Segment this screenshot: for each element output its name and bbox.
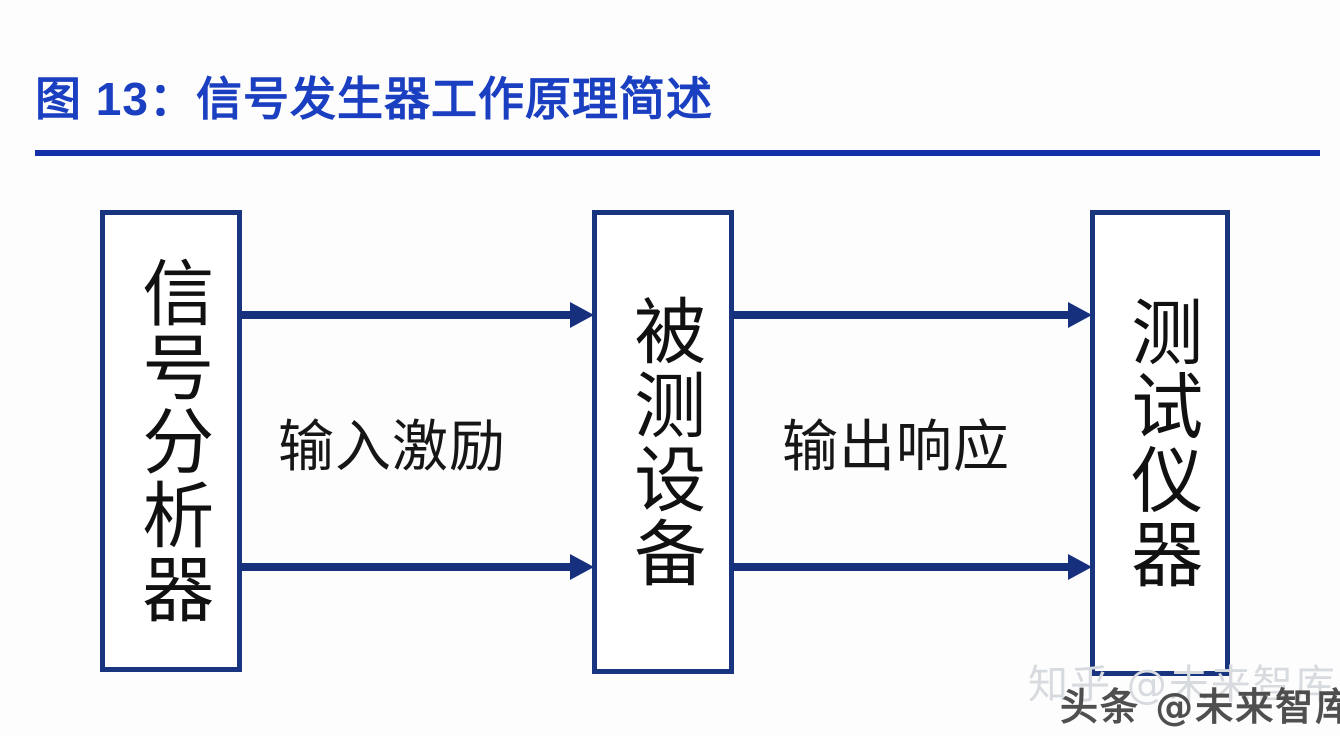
arrow-shaft: [240, 563, 572, 571]
arrow-output-bottom-icon: [732, 554, 1092, 580]
node-test-instrument-label: 测试仪器: [1095, 215, 1225, 671]
block-diagram: 信号分析器 被测设备 测试仪器 输入激励 输出响应: [0, 160, 1340, 736]
arrow-shaft: [732, 563, 1070, 571]
edge-label-output-response: 输出响应: [782, 402, 1010, 483]
title-underline-rule: [35, 150, 1320, 156]
arrow-shaft: [240, 311, 572, 319]
edge-label-input-excitation: 输入激励: [278, 402, 506, 483]
arrow-input-bottom-icon: [240, 554, 594, 580]
node-signal-analyzer: 信号分析器: [100, 210, 242, 672]
arrow-shaft: [732, 311, 1070, 319]
figure-title-block: 图 13：信号发生器工作原理简述: [0, 0, 1340, 160]
watermark-toutiao: 头条 @未来智库: [1060, 676, 1340, 731]
page-title: 图 13：信号发生器工作原理简述: [35, 76, 713, 122]
arrow-output-top-icon: [732, 302, 1092, 328]
node-signal-analyzer-label: 信号分析器: [105, 215, 237, 667]
node-device-under-test: 被测设备: [592, 210, 734, 674]
arrow-input-top-icon: [240, 302, 594, 328]
arrow-head: [570, 554, 594, 580]
node-device-under-test-label: 被测设备: [597, 215, 729, 669]
arrow-head: [1068, 302, 1092, 328]
node-test-instrument: 测试仪器: [1090, 210, 1230, 676]
figure-page: 图 13：信号发生器工作原理简述 信号分析器 被测设备 测试仪器: [0, 0, 1340, 736]
arrow-head: [1068, 554, 1092, 580]
arrow-head: [570, 302, 594, 328]
